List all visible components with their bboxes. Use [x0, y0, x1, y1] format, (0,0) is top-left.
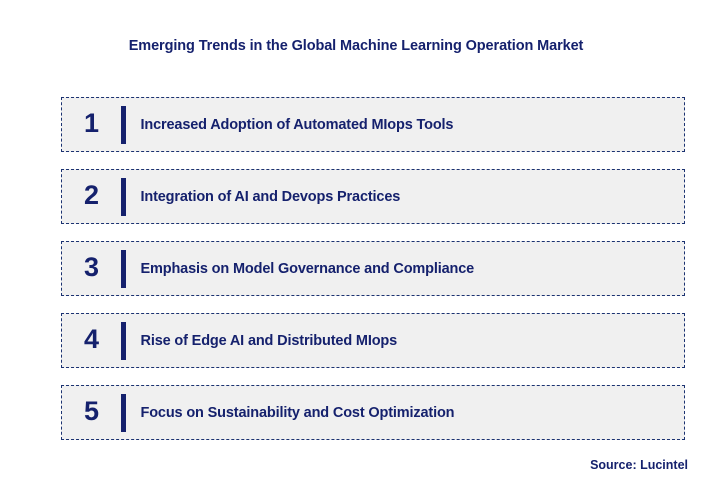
vertical-divider-icon [121, 322, 126, 360]
list-item[interactable]: 2 Integration of AI and Devops Practices [61, 169, 685, 224]
trend-label: Rise of Edge AI and Distributed MIops [141, 333, 685, 349]
source-attribution: Source: Lucintel [590, 458, 688, 472]
vertical-divider-icon [121, 178, 126, 216]
trend-label: Increased Adoption of Automated MIops To… [141, 117, 685, 133]
infographic-canvas: Emerging Trends in the Global Machine Le… [0, 0, 712, 501]
list-item[interactable]: 4 Rise of Edge AI and Distributed MIops [61, 313, 685, 368]
trend-label: Focus on Sustainability and Cost Optimiz… [141, 405, 685, 421]
vertical-divider-icon [121, 106, 126, 144]
vertical-divider-icon [121, 394, 126, 432]
list-item[interactable]: 5 Focus on Sustainability and Cost Optim… [61, 385, 685, 440]
page-title: Emerging Trends in the Global Machine Le… [0, 38, 712, 54]
trend-number: 5 [62, 398, 121, 427]
trend-label: Integration of AI and Devops Practices [141, 189, 685, 205]
list-item[interactable]: 1 Increased Adoption of Automated MIops … [61, 97, 685, 152]
vertical-divider-icon [121, 250, 126, 288]
trend-number: 4 [62, 326, 121, 355]
trend-list: 1 Increased Adoption of Automated MIops … [61, 97, 685, 457]
trend-label: Emphasis on Model Governance and Complia… [141, 261, 685, 277]
trend-number: 3 [62, 254, 121, 283]
trend-number: 2 [62, 182, 121, 211]
trend-number: 1 [62, 110, 121, 139]
list-item[interactable]: 3 Emphasis on Model Governance and Compl… [61, 241, 685, 296]
